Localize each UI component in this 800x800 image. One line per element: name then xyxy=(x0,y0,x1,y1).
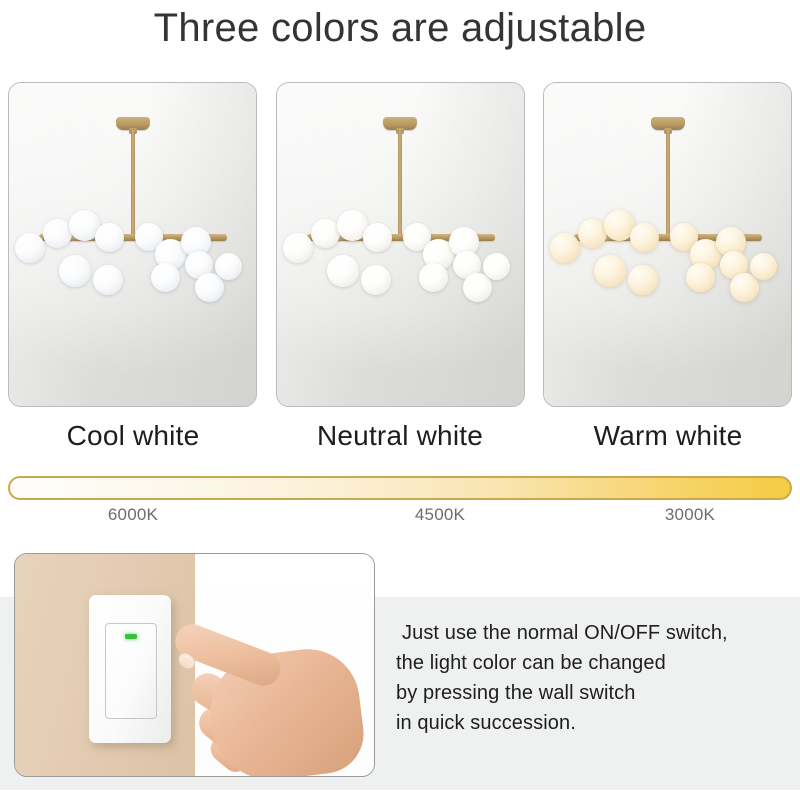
globe xyxy=(311,219,340,248)
globe xyxy=(628,265,658,295)
product-infographic: Three colors are adjustable xyxy=(0,0,800,800)
led-indicator-icon xyxy=(125,634,137,639)
kelvin-4500k: 4500K xyxy=(315,505,565,525)
photo-panel-cool-white xyxy=(8,82,257,407)
color-mode-labels: Cool white Neutral white Warm white xyxy=(0,420,800,462)
globe xyxy=(419,263,448,292)
globe xyxy=(93,265,123,295)
globe xyxy=(463,273,492,302)
switch-wall-plate xyxy=(89,595,171,743)
globe xyxy=(361,265,391,295)
fingernail xyxy=(176,651,197,672)
page-title: Three colors are adjustable xyxy=(0,6,800,51)
globe xyxy=(15,233,45,263)
ceiling-canopy-icon xyxy=(116,117,150,130)
downrod xyxy=(666,130,670,236)
globe xyxy=(578,219,607,248)
globe xyxy=(59,255,91,287)
instruction-line-1: Just use the normal ON/OFF switch, xyxy=(396,618,792,648)
globe xyxy=(594,255,626,287)
color-temperature-bar xyxy=(8,476,792,500)
globe xyxy=(215,253,242,280)
globe xyxy=(151,263,180,292)
switch-paddle xyxy=(105,623,157,719)
globe xyxy=(750,253,777,280)
label-cool-white: Cool white xyxy=(8,420,258,452)
globe xyxy=(686,263,715,292)
chandelier-cool-white xyxy=(9,83,256,406)
globe xyxy=(363,223,392,252)
kelvin-3000k: 3000K xyxy=(565,505,800,525)
label-neutral-white: Neutral white xyxy=(275,420,525,452)
hand-graphic xyxy=(165,610,375,777)
chandelier-warm-white xyxy=(544,83,791,406)
instruction-line-2: the light color can be changed xyxy=(396,648,792,678)
globe xyxy=(283,233,313,263)
photo-panel-neutral-white xyxy=(276,82,525,407)
globe xyxy=(95,223,124,252)
color-mode-panels xyxy=(8,82,792,405)
globe xyxy=(327,255,359,287)
downrod xyxy=(131,130,135,236)
globe xyxy=(43,219,72,248)
label-warm-white: Warm white xyxy=(543,420,793,452)
kelvin-tick-labels: 6000K 4500K 3000K xyxy=(0,505,800,531)
ceiling-canopy-icon xyxy=(383,117,417,130)
globe xyxy=(550,233,580,263)
instruction-line-3: by pressing the wall switch xyxy=(396,678,792,708)
globe xyxy=(483,253,510,280)
wall-switch-photo xyxy=(14,553,375,777)
globe xyxy=(630,223,659,252)
downrod xyxy=(398,130,402,236)
ceiling-canopy-icon xyxy=(651,117,685,130)
photo-panel-warm-white xyxy=(543,82,792,407)
chandelier-neutral-white xyxy=(277,83,524,406)
instruction-line-4: in quick succession. xyxy=(396,708,792,738)
instruction-text: Just use the normal ON/OFF switch, the l… xyxy=(396,618,792,738)
kelvin-6000k: 6000K xyxy=(8,505,258,525)
